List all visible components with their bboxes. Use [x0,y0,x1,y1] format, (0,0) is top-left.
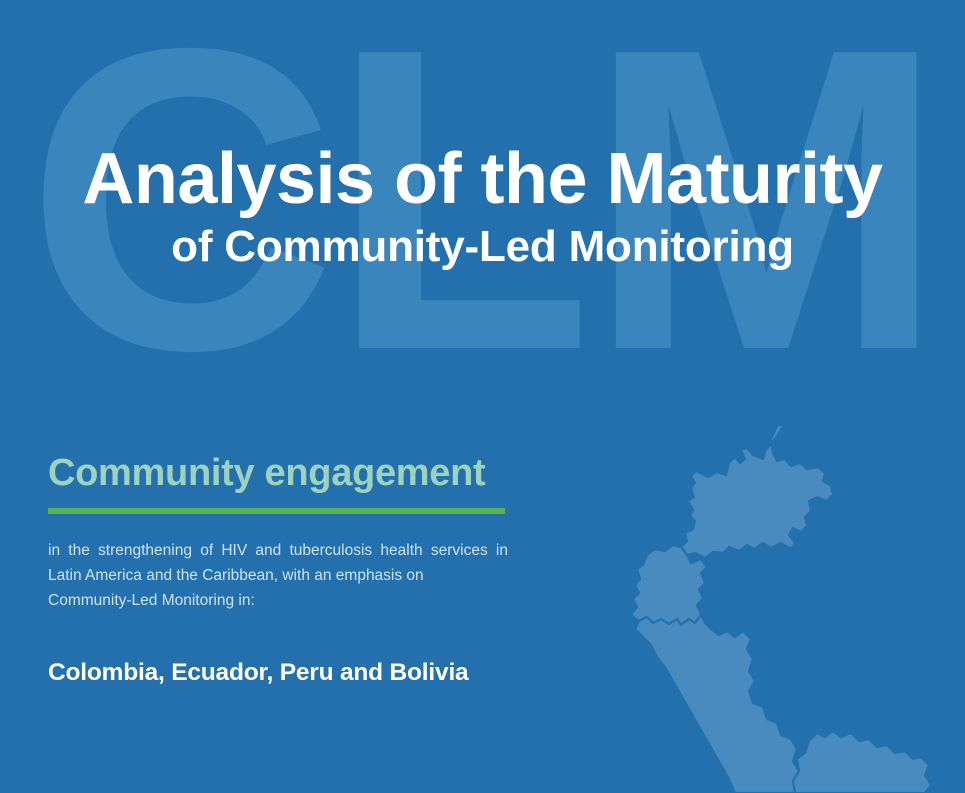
cover-page: CLM Analysis of the Maturity of Communit… [0,0,965,793]
map-country-colombia [681,424,833,558]
page-subtitle: of Community-Led Monitoring [0,223,965,271]
heading-underline-rule [48,508,505,514]
map-country-ecuador [631,545,707,625]
section-heading: Community engagement [48,452,508,495]
title-block: Analysis of the Maturity of Community-Le… [0,142,965,270]
description-line-1: in the strengthening of HIV and tubercul… [48,542,488,559]
lower-content-block: Community engagement in the strengthenin… [48,452,508,687]
section-description: in the strengthening of HIV and tubercul… [48,538,508,613]
countries-list: Colombia, Ecuador, Peru and Bolivia [48,658,508,687]
description-line-3: Community-Led Monitoring in: [48,588,508,613]
map-country-peru [635,615,799,793]
page-title: Analysis of the Maturity [0,142,965,217]
map-svg [595,393,965,793]
map-country-bolivia [793,731,931,793]
map-graphic [595,393,965,793]
